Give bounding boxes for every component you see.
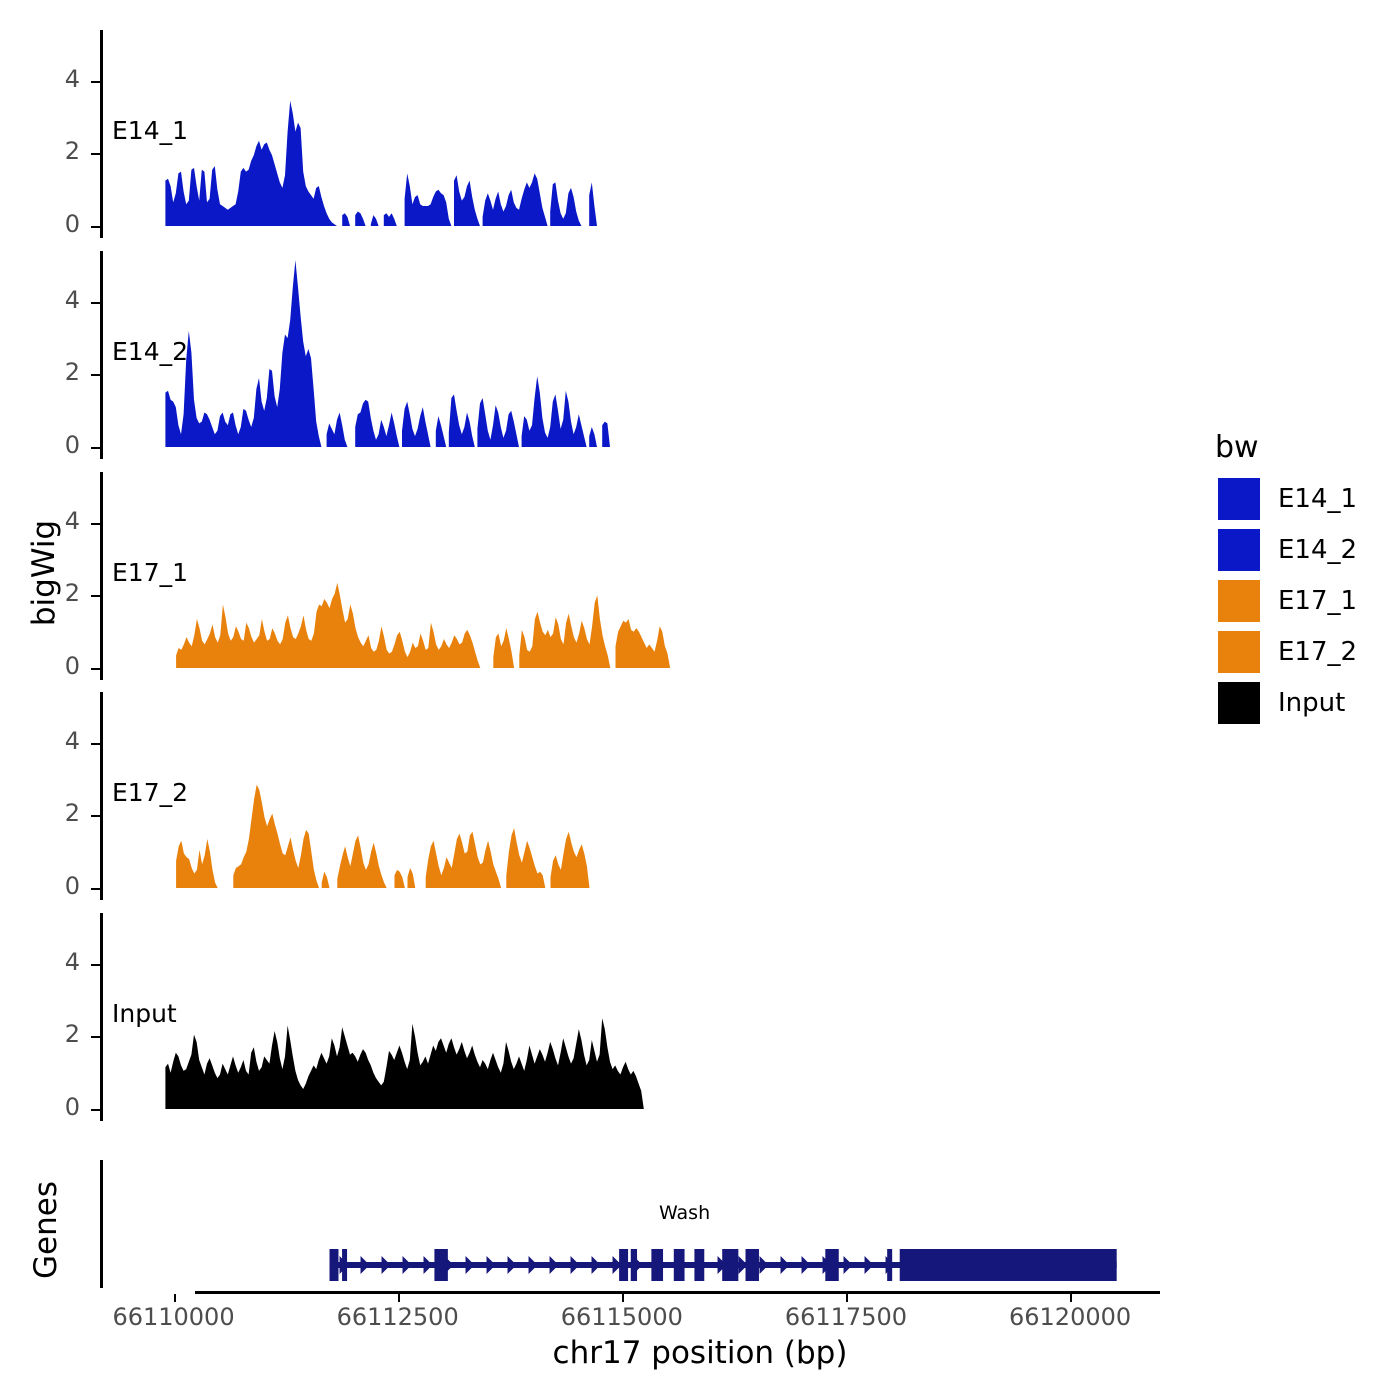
strand-arrow-icon — [466, 1256, 475, 1274]
strand-arrow-icon — [382, 1256, 391, 1274]
x-tick-label: 66117500 — [756, 1303, 936, 1331]
coverage-area-input — [0, 913, 1400, 1123]
x-tick — [622, 1294, 624, 1302]
strand-arrow-icon — [361, 1256, 370, 1274]
strand-arrow-icon — [487, 1256, 496, 1274]
gene-name-label: Wash — [585, 1202, 785, 1224]
coverage-area-e14_2 — [0, 251, 1400, 461]
strand-arrow-icon — [424, 1256, 433, 1274]
coverage-area-e17_1 — [0, 472, 1400, 682]
coverage-area-e17_2 — [0, 692, 1400, 902]
exon-box — [434, 1249, 447, 1281]
gene-model[interactable] — [0, 1160, 1400, 1310]
x-tick-label: 66120000 — [980, 1303, 1160, 1331]
x-tick — [398, 1294, 400, 1302]
exon-box — [342, 1249, 347, 1281]
legend-label-e14_1: E14_1 — [1278, 478, 1357, 520]
exon-box — [694, 1249, 704, 1281]
exon-box — [619, 1249, 628, 1281]
strand-arrow-icon — [550, 1256, 559, 1274]
legend-label-e17_1: E17_1 — [1278, 580, 1357, 622]
exon-box — [722, 1249, 738, 1281]
exon-box — [651, 1249, 663, 1281]
legend-swatch-e17_2[interactable] — [1218, 631, 1260, 673]
x-tick-label: 66112500 — [308, 1303, 488, 1331]
strand-arrow-icon — [844, 1256, 853, 1274]
x-tick — [174, 1294, 176, 1302]
exon-box — [674, 1249, 685, 1281]
coverage-path — [176, 583, 670, 668]
strand-arrow-icon — [865, 1256, 874, 1274]
x-tick — [1070, 1294, 1072, 1302]
x-tick-label: 66115000 — [532, 1303, 712, 1331]
coverage-path — [165, 260, 610, 447]
strand-arrow-icon — [571, 1256, 580, 1274]
x-tick-label: 66110000 — [84, 1303, 264, 1331]
exon-box — [900, 1249, 1117, 1281]
strand-arrow-icon — [802, 1256, 811, 1274]
legend-title: bw — [1215, 430, 1259, 465]
strand-arrow-icon — [781, 1256, 790, 1274]
legend-swatch-e17_1[interactable] — [1218, 580, 1260, 622]
exon-box — [887, 1249, 892, 1281]
exon-box — [330, 1249, 339, 1281]
strand-arrow-icon — [592, 1256, 601, 1274]
exon-box — [746, 1249, 759, 1281]
x-axis-title: chr17 position (bp) — [330, 1335, 1070, 1371]
legend-label-input: Input — [1278, 682, 1345, 724]
legend-label-e14_2: E14_2 — [1278, 529, 1357, 571]
genome-browser-figure: bigWig Genes 024E14_1024E14_2024E17_1024… — [0, 0, 1400, 1400]
track-panel-input: 024Input — [0, 0, 1400, 1]
legend-swatch-input[interactable] — [1218, 682, 1260, 724]
coverage-path — [165, 101, 597, 226]
strand-arrow-icon — [760, 1256, 769, 1274]
coverage-path — [165, 1018, 643, 1109]
legend-swatch-e14_2[interactable] — [1218, 529, 1260, 571]
strand-arrow-icon — [508, 1256, 517, 1274]
coverage-area-e14_1 — [0, 30, 1400, 240]
x-tick — [846, 1294, 848, 1302]
exon-box — [825, 1249, 838, 1281]
exon-box — [631, 1249, 637, 1281]
strand-arrow-icon — [529, 1256, 538, 1274]
x-axis-line — [195, 1291, 1160, 1294]
strand-arrow-icon — [403, 1256, 412, 1274]
legend-label-e17_2: E17_2 — [1278, 631, 1357, 673]
legend-swatch-e14_1[interactable] — [1218, 478, 1260, 520]
coverage-path — [176, 785, 589, 888]
